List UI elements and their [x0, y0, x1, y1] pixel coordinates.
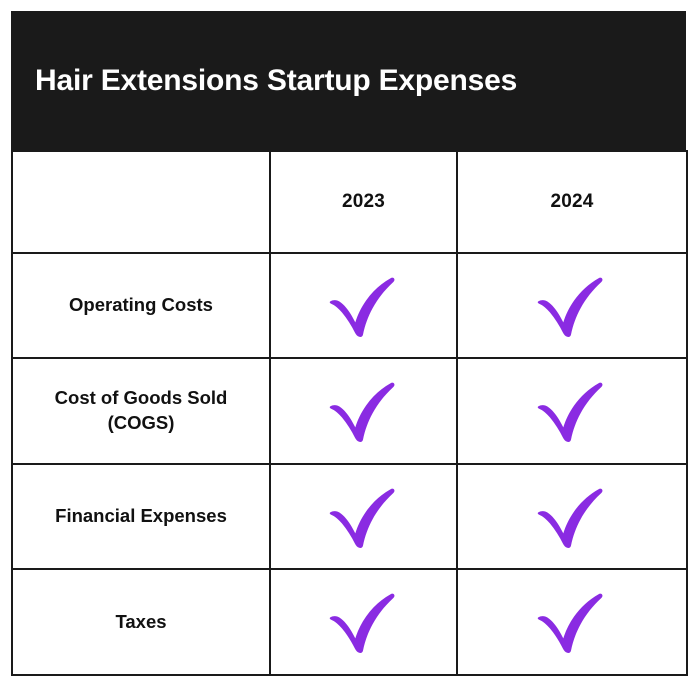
cell-taxes-2024	[457, 569, 687, 675]
column-header-2023: 2023	[270, 151, 457, 253]
column-header-label: 2024	[550, 191, 593, 212]
page-root: Hair Extensions Startup Expenses 2023	[0, 0, 700, 700]
page-title: Hair Extensions Startup Expenses	[35, 64, 517, 97]
check-icon	[326, 591, 402, 653]
table-row: Financial Expenses	[12, 464, 687, 569]
cell-cogs-2023	[270, 358, 457, 464]
row-label-cogs: Cost of Goods Sold (COGS)	[12, 358, 270, 464]
row-label-taxes: Taxes	[12, 569, 270, 675]
row-label-text: Cost of Goods Sold (COGS)	[13, 386, 269, 436]
check-icon	[326, 380, 402, 442]
row-label-text: Operating Costs	[13, 293, 269, 318]
column-header-label: 2023	[342, 191, 385, 212]
table-header-row: 2023 2024	[12, 151, 687, 253]
cell-cogs-2024	[457, 358, 687, 464]
title-bar: Hair Extensions Startup Expenses	[11, 11, 686, 150]
table-row: Taxes	[12, 569, 687, 675]
check-icon	[326, 275, 402, 337]
corner-cell	[12, 151, 270, 253]
row-label-text: Financial Expenses	[13, 504, 269, 529]
check-icon	[326, 486, 402, 548]
cell-taxes-2023	[270, 569, 457, 675]
row-label-text: Taxes	[13, 610, 269, 635]
cell-operating-costs-2023	[270, 253, 457, 358]
cell-operating-costs-2024	[457, 253, 687, 358]
table-row: Operating Costs	[12, 253, 687, 358]
check-icon	[534, 591, 610, 653]
check-icon	[534, 380, 610, 442]
table-row: Cost of Goods Sold (COGS)	[12, 358, 687, 464]
expenses-table: 2023 2024 Operating Costs	[11, 150, 688, 676]
check-icon	[534, 275, 610, 337]
row-label-line-2: (COGS)	[25, 411, 257, 436]
column-header-2024: 2024	[457, 151, 687, 253]
comparison-table: Hair Extensions Startup Expenses 2023	[11, 11, 686, 686]
check-icon	[534, 486, 610, 548]
row-label-operating-costs: Operating Costs	[12, 253, 270, 358]
row-label-financial-expenses: Financial Expenses	[12, 464, 270, 569]
cell-financial-expenses-2024	[457, 464, 687, 569]
row-label-line-1: Cost of Goods Sold	[25, 386, 257, 411]
cell-financial-expenses-2023	[270, 464, 457, 569]
